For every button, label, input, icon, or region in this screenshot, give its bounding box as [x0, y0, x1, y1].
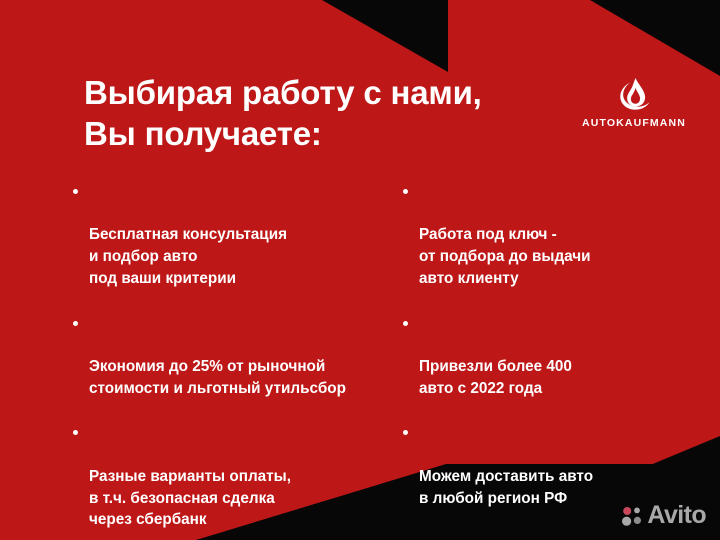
bullet-dot-icon [403, 189, 408, 194]
promo-poster: Выбирая работу с нами, Вы получаете: AUT… [0, 0, 720, 540]
avito-watermark: Avito [621, 503, 706, 528]
list-item-text: Работа под ключ - от подбора до выдачи а… [419, 226, 591, 286]
list-item: Можем доставить авто в любой регион РФ [402, 422, 702, 509]
page-title: Выбирая работу с нами, Вы получаете: [84, 72, 584, 155]
list-item-text: Бесплатная консультация и подбор авто по… [89, 226, 287, 286]
benefits-column-right: Работа под ключ - от подбора до выдачи а… [402, 181, 702, 532]
bullet-dot-icon [403, 321, 408, 326]
bullet-dot-icon [73, 430, 78, 435]
list-item-text: Можем доставить авто в любой регион РФ [419, 468, 593, 507]
brand-logo: AUTOKAUFMANN [580, 76, 688, 129]
list-item-text: Привезли более 400 авто с 2022 года [419, 358, 572, 397]
benefits-column-left: Бесплатная консультация и подбор авто по… [72, 181, 402, 540]
flame-swoosh-icon [614, 76, 654, 112]
bullet-dot-icon [403, 430, 408, 435]
list-item: Бесплатная консультация и подбор авто по… [72, 181, 402, 290]
brand-name: AUTOKAUFMANN [580, 117, 688, 129]
avito-label: Avito [647, 503, 706, 528]
avito-dots-icon [621, 505, 643, 527]
list-item: Работа под ключ - от подбора до выдачи а… [402, 181, 702, 290]
list-item: Разные варианты оплаты, в т.ч. безопасна… [72, 422, 402, 531]
list-item: Привезли более 400 авто с 2022 года [402, 313, 702, 400]
list-item-text: Разные варианты оплаты, в т.ч. безопасна… [89, 468, 291, 528]
bullet-dot-icon [73, 321, 78, 326]
list-item: Экономия до 25% от рыночной стоимости и … [72, 313, 402, 400]
bullet-dot-icon [73, 189, 78, 194]
list-item-text: Экономия до 25% от рыночной стоимости и … [89, 358, 346, 397]
